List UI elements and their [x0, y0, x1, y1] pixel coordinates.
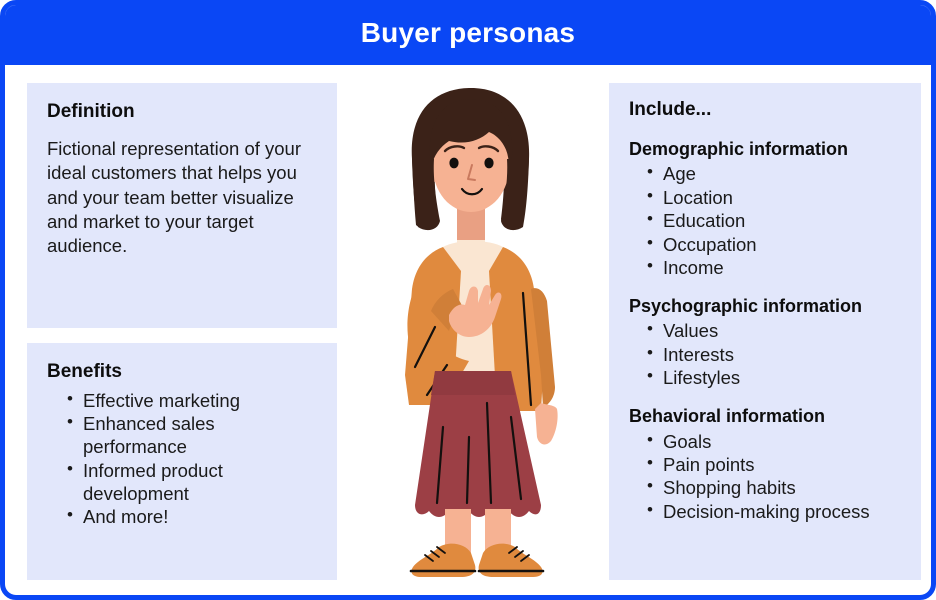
list-item: Goals — [661, 430, 901, 453]
page-title: Buyer personas — [361, 17, 575, 49]
psychographic-list: Values Interests Lifestyles — [629, 319, 901, 389]
right-column: Include... Demographic information Age L… — [609, 83, 921, 580]
list-item: Income — [661, 256, 901, 279]
list-item: Lifestyles — [661, 366, 901, 389]
psychographic-section-title: Psychographic information — [629, 296, 901, 318]
list-item: Interests — [661, 343, 901, 366]
list-item: Decision-making process — [661, 500, 901, 523]
definition-body: Fictional representation of your ideal c… — [47, 137, 317, 259]
list-item: Shopping habits — [661, 476, 901, 499]
demographic-section-title: Demographic information — [629, 139, 901, 161]
list-item: Age — [661, 162, 901, 185]
header-bar: Buyer personas — [0, 0, 936, 65]
list-item: Informed product development — [81, 459, 317, 506]
list-item: Location — [661, 186, 901, 209]
benefits-card: Benefits Effective marketing Enhanced sa… — [27, 343, 337, 580]
list-item: Education — [661, 209, 901, 232]
list-item: Pain points — [661, 453, 901, 476]
definition-card: Definition Fictional representation of y… — [27, 83, 337, 328]
list-item: Occupation — [661, 233, 901, 256]
definition-heading: Definition — [47, 101, 317, 123]
infographic-root: Buyer personas Definition Fictional repr… — [0, 0, 936, 600]
woman-persona-illustration — [365, 75, 581, 585]
list-item: Effective marketing — [81, 389, 317, 412]
include-card: Include... Demographic information Age L… — [609, 83, 921, 580]
benefits-heading: Benefits — [47, 361, 317, 383]
list-item: Enhanced sales performance — [81, 412, 317, 459]
benefits-list: Effective marketing Enhanced sales perfo… — [47, 389, 317, 529]
demographic-list: Age Location Education Occupation Income — [629, 162, 901, 279]
behavioral-list: Goals Pain points Shopping habits Decisi… — [629, 430, 901, 524]
list-item: And more! — [81, 505, 317, 528]
list-item: Values — [661, 319, 901, 342]
include-heading: Include... — [629, 99, 901, 121]
left-column: Definition Fictional representation of y… — [27, 83, 337, 580]
behavioral-section-title: Behavioral information — [629, 406, 901, 428]
